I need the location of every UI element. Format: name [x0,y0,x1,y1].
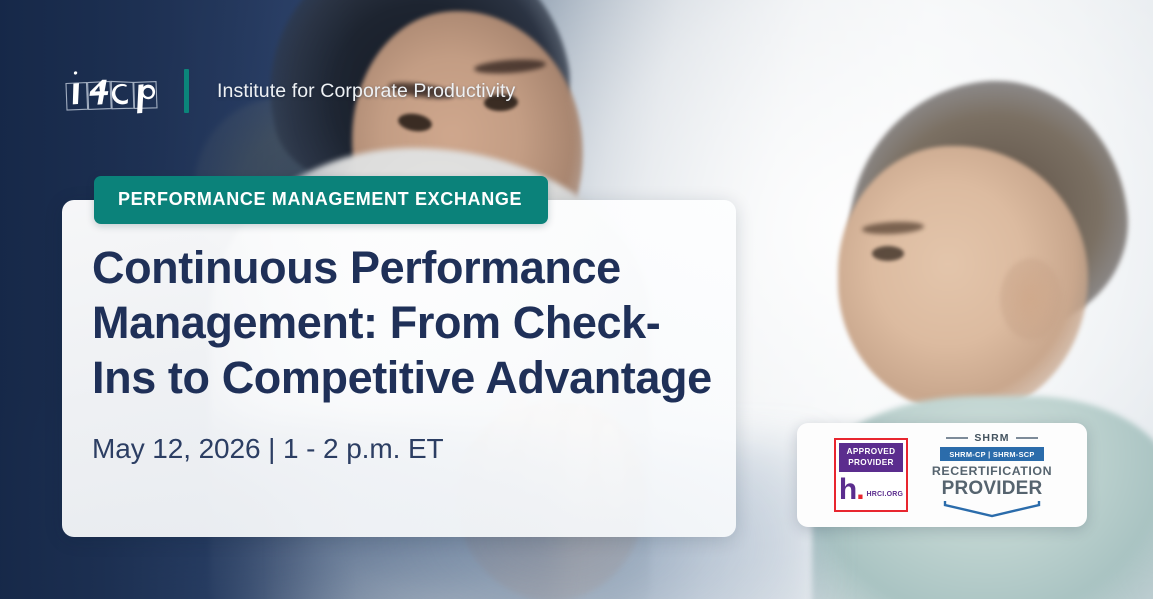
hrci-h-icon: h. [839,477,864,503]
promo-banner: Institute for Corporate Productivity PER… [0,0,1153,599]
shrm-line1: RECERTIFICATION [932,464,1052,478]
shrm-rule-left-icon [946,437,968,438]
shrm-chevron-icon [943,500,1041,518]
shrm-brand-row: SHRM [934,432,1050,444]
hrci-approved-provider-label: APPROVED PROVIDER [839,443,903,472]
header-divider-icon [184,69,189,113]
hrci-line2: PROVIDER [839,458,903,469]
brand-header: Institute for Corporate Productivity [62,66,515,116]
shrm-recertification-provider-badge: SHRM SHRM-CP | SHRM-SCP RECERTIFICATION … [934,432,1050,518]
eyebrow-badge: PERFORMANCE MANAGEMENT EXCHANGE [94,176,548,224]
card-content: Continuous Performance Management: From … [92,240,722,465]
page-title: Continuous Performance Management: From … [92,240,712,405]
shrm-line2: PROVIDER [942,478,1043,499]
header-tagline: Institute for Corporate Productivity [217,80,515,103]
hrci-mark-dot: . [856,473,863,506]
i4cp-logo[interactable] [62,66,164,116]
hrci-line1: APPROVED [839,447,903,458]
hrci-org-label: HRCI.ORG [867,491,904,498]
shrm-brand: SHRM [974,432,1009,444]
event-datetime: May 12, 2026 | 1 - 2 p.m. ET [92,433,722,465]
shrm-credentials: SHRM-CP | SHRM-SCP [940,447,1044,461]
shrm-rule-right-icon [1016,437,1038,438]
hrci-mark-row: h. HRCI.ORG [839,472,903,507]
hrci-mark: h [839,473,856,506]
certification-badges: APPROVED PROVIDER h. HRCI.ORG SHRM SHRM-… [797,423,1087,527]
hrci-approved-provider-badge: APPROVED PROVIDER h. HRCI.ORG [834,438,908,512]
